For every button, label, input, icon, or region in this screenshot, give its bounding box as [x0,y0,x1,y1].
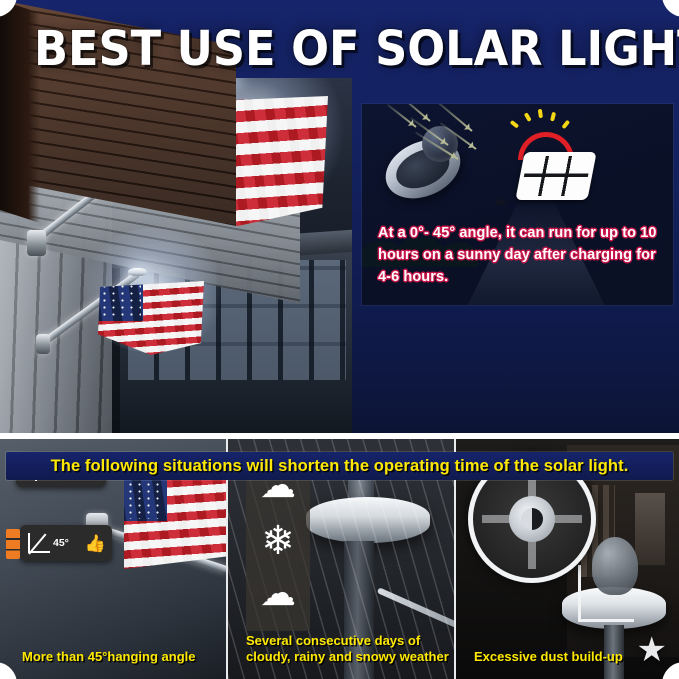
thumbs-up-icon: 👍 [85,535,106,552]
warning-banner: The following situations will shorten th… [6,452,673,480]
lower-wall-bracket [36,334,50,354]
caption-dust: Excessive dust build-up [474,649,642,665]
sun-and-panel-icon: 45° [492,112,604,210]
angle-callout-card: 45° At a 0°- 45° angle, it can run for u… [362,104,673,305]
caption-weather: Several consecutive days of cloudy, rain… [246,633,452,665]
caption-hanging-angle: More than 45°hanging angle [22,649,212,665]
badge-45-label: 45° [53,537,69,549]
callout-description: At a 0°- 45° angle, it can run for up to… [378,222,661,288]
page-title: BEST USE OF SOLAR LIGHTS [34,21,611,77]
caption-weather-line1: Several consecutive days of [246,633,452,649]
solar-panel-icon [515,152,596,200]
badge-45-degrees: 45° 👍 [20,525,112,561]
lower-american-flag [98,281,204,355]
clouds-icon: ☁ [246,575,310,611]
angle-45-icon [26,531,52,555]
lower-solar-lamp [128,268,147,276]
battery-bars-icon [6,529,20,559]
section-divider [0,433,679,439]
solar-light-disc-icon [378,118,482,210]
snowflake-icon: ❄ [246,521,310,561]
warning-banner-text: The following situations will shorten th… [51,457,629,476]
panel-angle-label: 45° [495,198,509,207]
magnifier-pointer [578,565,581,621]
top-section: 45° At a 0°- 45° angle, it can run for u… [0,0,679,437]
dusty-panel-hub [509,496,555,542]
weather-icon-strip: ☁ ❄ ☁ [246,455,310,631]
product-infographic: 45° At a 0°- 45° angle, it can run for u… [0,0,679,679]
panel1-american-flag [124,465,226,569]
panel3-light-bulb [592,537,638,595]
caption-weather-line2: cloudy, rainy and snowy weather [246,649,452,665]
upper-wall-bracket [27,230,46,256]
panel2-solar-lamp [306,497,430,543]
